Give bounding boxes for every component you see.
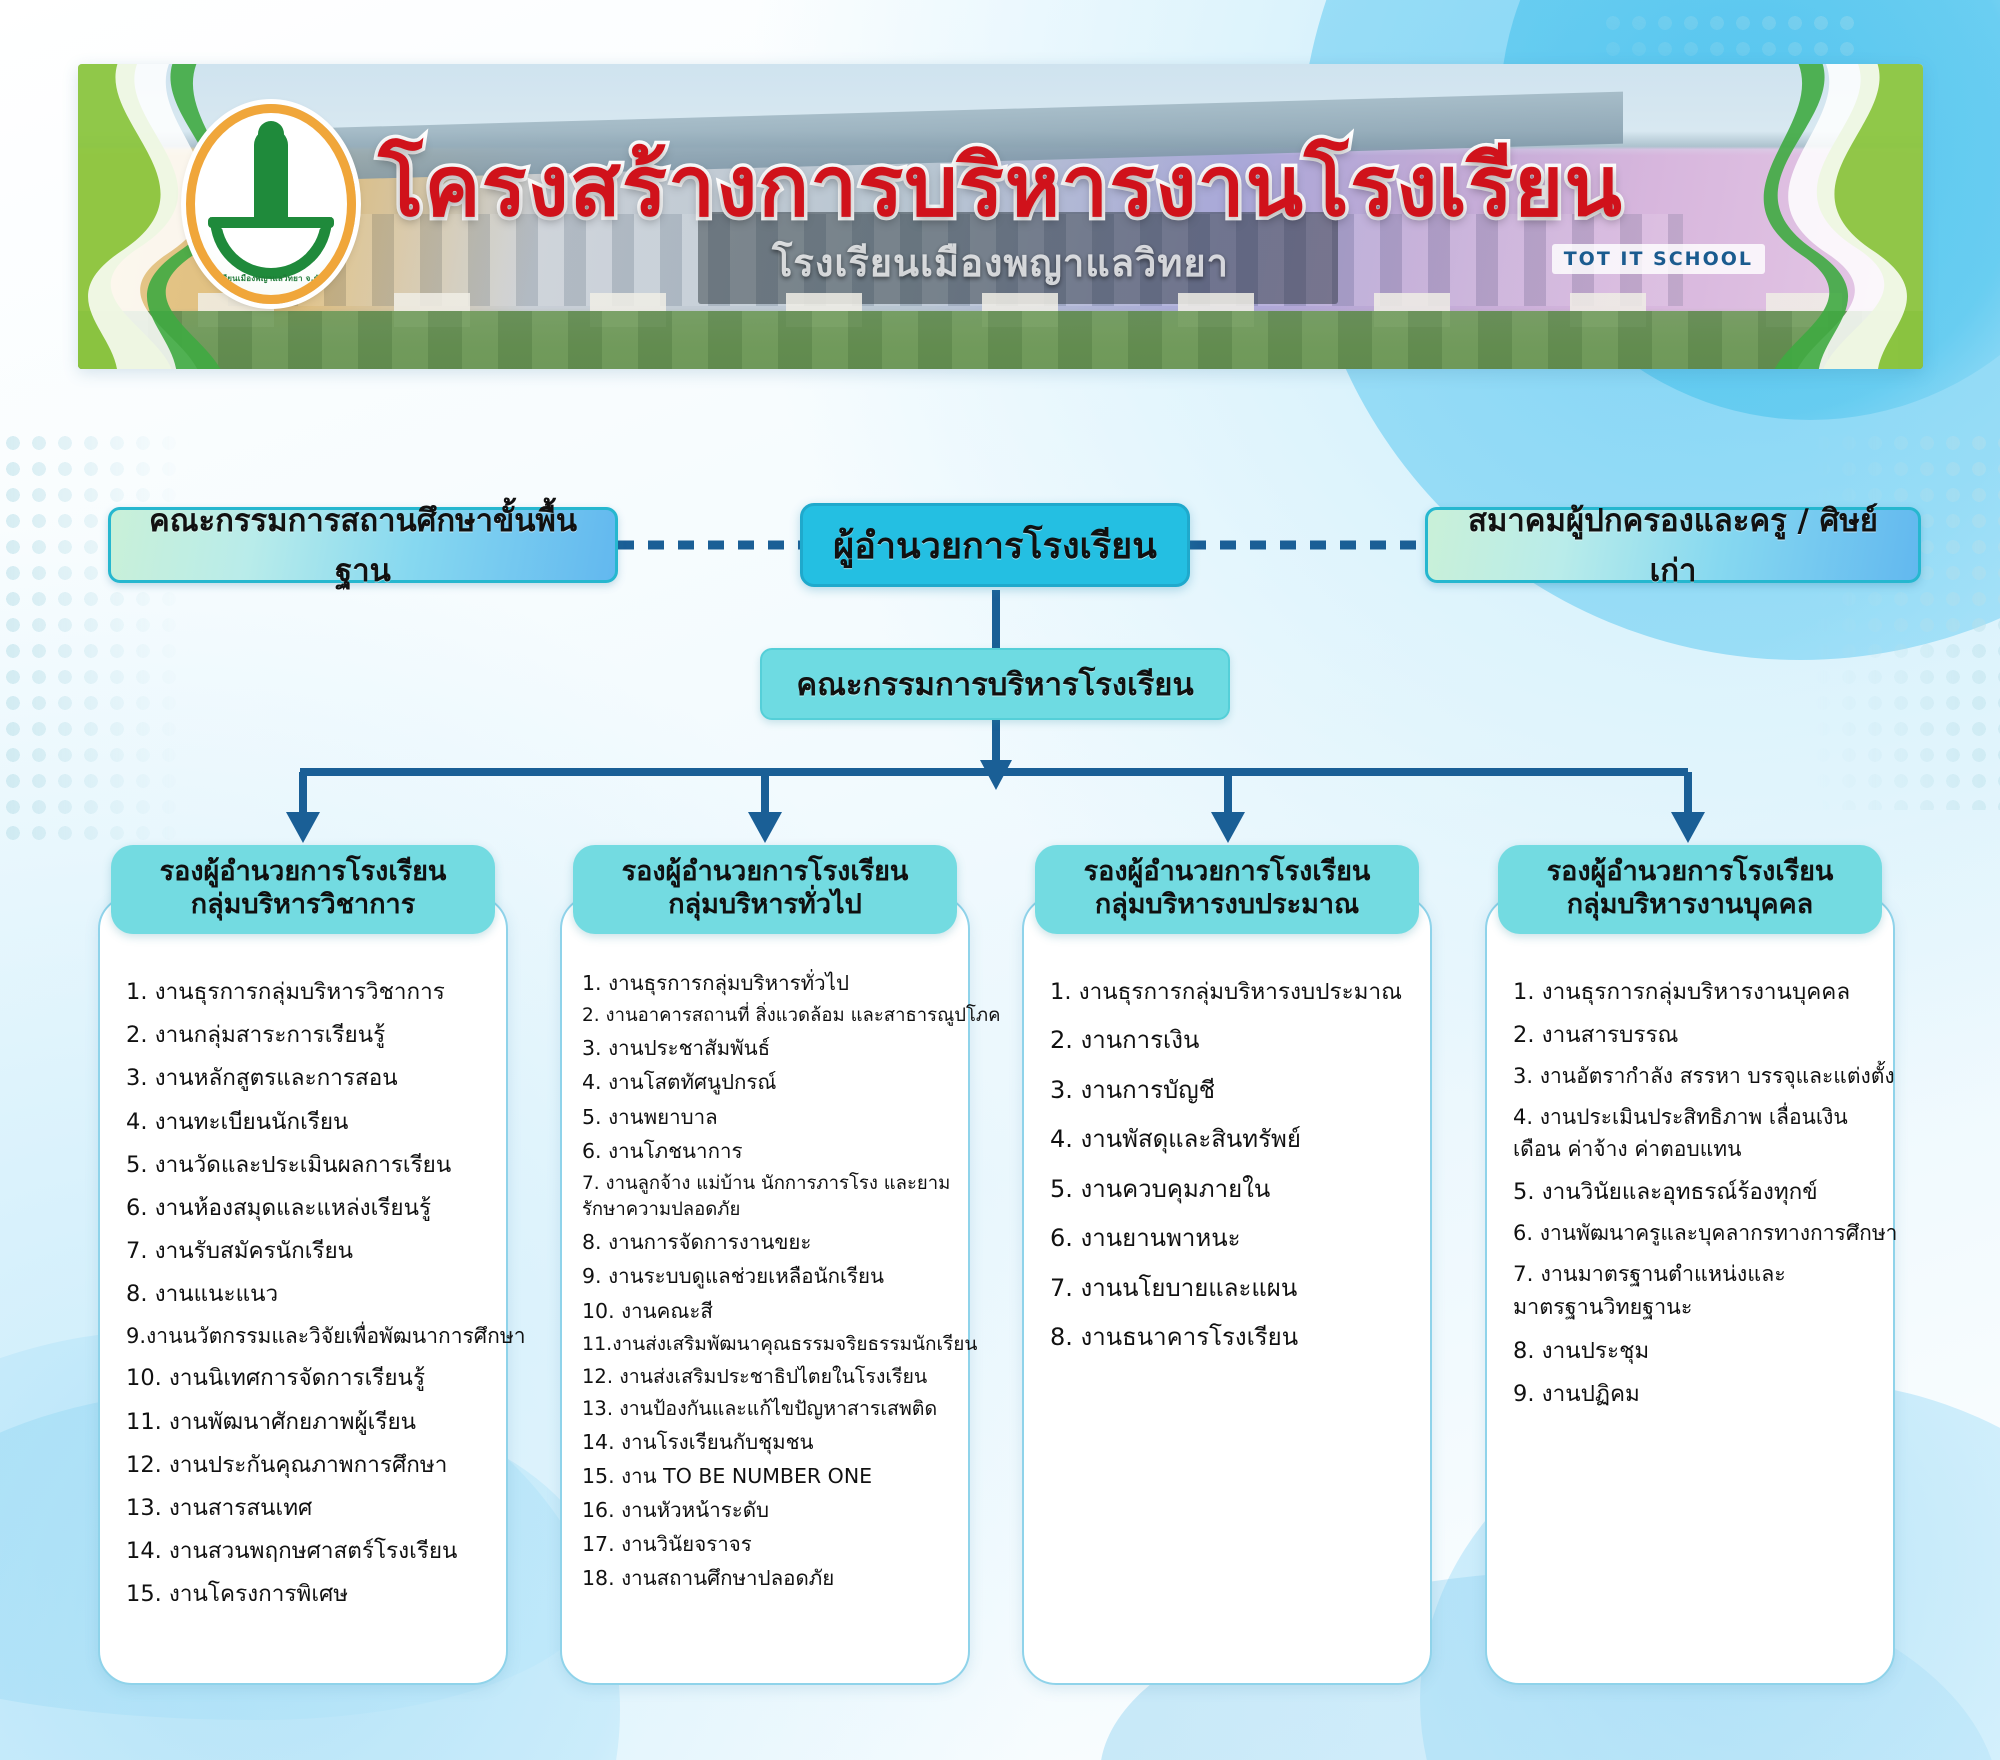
group-general-administration: รองผู้อำนวยการโรงเรียน กลุ่มบริหารทั่วไป… xyxy=(560,895,970,1685)
list-item: 3. งานการบัญชี xyxy=(1050,1072,1412,1108)
group-academic-affairs-title-line2: กลุ่มบริหารวิชาการ xyxy=(119,889,487,922)
list-item: 12. งานประกันคุณภาพการศึกษา xyxy=(126,1448,488,1482)
group-general-administration-title-line1: รองผู้อำนวยการโรงเรียน xyxy=(622,856,909,887)
list-item: 3. งานหลักสูตรและการสอน xyxy=(126,1061,488,1095)
list-item: 5. งานพยาบาล xyxy=(582,1103,956,1132)
group-budget-administration-header[interactable]: รองผู้อำนวยการโรงเรียน กลุ่มบริหารงบประม… xyxy=(1035,845,1419,934)
group-general-administration-list: 1. งานธุรการกลุ่มบริหารทั่วไป 2. งานอาคา… xyxy=(582,969,956,1599)
list-item: 10. งานนิเทศการจัดการเรียนรู้ xyxy=(126,1361,488,1395)
node-parent-teacher-association[interactable]: สมาคมผู้ปกครองและครู / ศิษย์เก่า xyxy=(1425,507,1921,583)
list-item: 2. งานการเงิน xyxy=(1050,1022,1412,1058)
group-academic-affairs-list: 1. งานธุรการกลุ่มบริหารวิชาการ 2. งานกลุ… xyxy=(126,975,488,1621)
list-item: 7. งานรับสมัครนักเรียน xyxy=(126,1234,488,1268)
group-academic-affairs-title-line1: รองผู้อำนวยการโรงเรียน xyxy=(160,856,447,887)
node-school-board-label: คณะกรรมการสถานศึกษาขั้นพื้นฐาน xyxy=(131,495,595,595)
group-academic-affairs-header[interactable]: รองผู้อำนวยการโรงเรียน กลุ่มบริหารวิชากา… xyxy=(111,845,495,934)
node-school-board[interactable]: คณะกรรมการสถานศึกษาขั้นพื้นฐาน xyxy=(108,507,618,583)
list-item: 11. งานพัฒนาศักยภาพผู้เรียน xyxy=(126,1405,488,1439)
group-budget-administration-title-line2: กลุ่มบริหารงบประมาณ xyxy=(1043,889,1411,922)
list-item: 8. งานธนาคารโรงเรียน xyxy=(1050,1319,1412,1355)
list-item: 1. งานธุรการกลุ่มบริหารงานบุคคล xyxy=(1513,975,1875,1009)
list-item: 3. งานอัตรากำลัง สรรหา บรรจุและแต่งตั้ง xyxy=(1513,1061,1875,1093)
list-item: 17. งานวินัยจราจร xyxy=(582,1530,956,1559)
group-personnel-administration: รองผู้อำนวยการโรงเรียน กลุ่มบริหารงานบุค… xyxy=(1485,895,1895,1685)
list-item: 16. งานหัวหน้าระดับ xyxy=(582,1496,956,1525)
list-item: 18. งานสถานศึกษาปลอดภัย xyxy=(582,1564,956,1593)
list-item: 1. งานธุรการกลุ่มบริหารทั่วไป xyxy=(582,969,956,998)
list-item: 5. งานวัดและประเมินผลการเรียน xyxy=(126,1148,488,1182)
list-item: 8. งานการจัดการงานขยะ xyxy=(582,1228,956,1257)
list-item: 12. งานส่งเสริมประชาธิปไตยในโรงเรียน xyxy=(582,1363,956,1391)
list-item: 7. งานมาตรฐานตำแหน่งและมาตรฐานวิทยฐานะ xyxy=(1513,1259,1875,1324)
list-item: 15. งานโครงการพิเศษ xyxy=(126,1577,488,1611)
node-school-management-committee[interactable]: คณะกรรมการบริหารโรงเรียน xyxy=(760,648,1230,720)
list-item: 5. งานควบคุมภายใน xyxy=(1050,1171,1412,1207)
node-school-management-committee-label: คณะกรรมการบริหารโรงเรียน xyxy=(796,659,1193,709)
list-item: 4. งานทะเบียนนักเรียน xyxy=(126,1105,488,1139)
list-item: 5. งานวินัยและอุทธรณ์ร้องทุกข์ xyxy=(1513,1175,1875,1209)
list-item: 4. งานพัสดุและสินทรัพย์ xyxy=(1050,1121,1412,1157)
list-item: 6. งานห้องสมุดและแหล่งเรียนรู้ xyxy=(126,1191,488,1225)
group-personnel-administration-title-line2: กลุ่มบริหารงานบุคคล xyxy=(1506,889,1874,922)
list-item: 4. งานประเมินประสิทธิภาพ เลื่อนเงินเดือน… xyxy=(1513,1102,1875,1166)
group-budget-administration-list: 1. งานธุรการกลุ่มบริหารงบประมาณ 2. งานกา… xyxy=(1050,975,1412,1368)
list-item: 11.งานส่งเสริมพัฒนาคุณธรรมจริยธรรมนักเรี… xyxy=(582,1331,956,1358)
list-item: 7. งานนโยบายและแผน xyxy=(1050,1270,1412,1306)
list-item: 1. งานธุรการกลุ่มบริหารวิชาการ xyxy=(126,975,488,1009)
list-item: 3. งานประชาสัมพันธ์ xyxy=(582,1034,956,1063)
list-item: 4. งานโสตทัศนูปกรณ์ xyxy=(582,1068,956,1097)
group-personnel-administration-title-line1: รองผู้อำนวยการโรงเรียน xyxy=(1547,856,1834,887)
list-item: 14. งานสวนพฤกษศาสตร์โรงเรียน xyxy=(126,1534,488,1568)
list-item: 14. งานโรงเรียนกับชุมชน xyxy=(582,1428,956,1457)
list-item: 8. งานประชุม xyxy=(1513,1334,1875,1368)
list-item: 9.งานนวัตกรรมและวิจัยเพื่อพัฒนาการศึกษา xyxy=(126,1321,488,1353)
list-item: 8. งานแนะแนว xyxy=(126,1277,488,1311)
list-item: 10. งานคณะสี xyxy=(582,1297,956,1326)
group-academic-affairs: รองผู้อำนวยการโรงเรียน กลุ่มบริหารวิชากา… xyxy=(98,895,508,1685)
list-item: 6. งานยานพาหนะ xyxy=(1050,1220,1412,1256)
list-item: 9. งานปฏิคม xyxy=(1513,1377,1875,1411)
node-director[interactable]: ผู้อำนวยการโรงเรียน xyxy=(800,503,1190,587)
list-item: 6. งานพัฒนาครูและบุคลากรทางการศึกษา xyxy=(1513,1218,1875,1250)
list-item: 7. งานลูกจ้าง แม่บ้าน นักการภารโรง และยา… xyxy=(582,1171,956,1224)
list-item: 2. งานอาคารสถานที่ สิ่งแวดล้อม และสาธารณ… xyxy=(582,1003,956,1029)
list-item: 2. งานสารบรรณ xyxy=(1513,1018,1875,1052)
list-item: 1. งานธุรการกลุ่มบริหารงบประมาณ xyxy=(1050,975,1412,1009)
node-director-label: ผู้อำนวยการโรงเรียน xyxy=(833,517,1157,574)
poster-canvas: โรงเรียนเมืองพญาแลวิทยา TOT IT SCHOOL โร… xyxy=(0,0,2000,1760)
list-item: 2. งานกลุ่มสาระการเรียนรู้ xyxy=(126,1018,488,1052)
group-budget-administration-title-line1: รองผู้อำนวยการโรงเรียน xyxy=(1084,856,1371,887)
group-personnel-administration-header[interactable]: รองผู้อำนวยการโรงเรียน กลุ่มบริหารงานบุค… xyxy=(1498,845,1882,934)
list-item: 13. งานป้องกันและแก้ไขปัญหาสารเสพติด xyxy=(582,1395,956,1423)
group-personnel-administration-list: 1. งานธุรการกลุ่มบริหารงานบุคคล 2. งานสา… xyxy=(1513,975,1875,1420)
list-item: 9. งานระบบดูแลช่วยเหลือนักเรียน xyxy=(582,1262,956,1291)
list-item: 13. งานสารสนเทศ xyxy=(126,1491,488,1525)
group-general-administration-header[interactable]: รองผู้อำนวยการโรงเรียน กลุ่มบริหารทั่วไป xyxy=(573,845,957,934)
node-parent-teacher-association-label: สมาคมผู้ปกครองและครู / ศิษย์เก่า xyxy=(1448,495,1898,595)
group-general-administration-title-line2: กลุ่มบริหารทั่วไป xyxy=(581,889,949,922)
org-chart: คณะกรรมการสถานศึกษาขั้นพื้นฐาน ผู้อำนวยก… xyxy=(0,0,2000,1760)
group-budget-administration: รองผู้อำนวยการโรงเรียน กลุ่มบริหารงบประม… xyxy=(1022,895,1432,1685)
list-item: 15. งาน TO BE NUMBER ONE xyxy=(582,1462,956,1491)
list-item: 6. งานโภชนาการ xyxy=(582,1137,956,1166)
